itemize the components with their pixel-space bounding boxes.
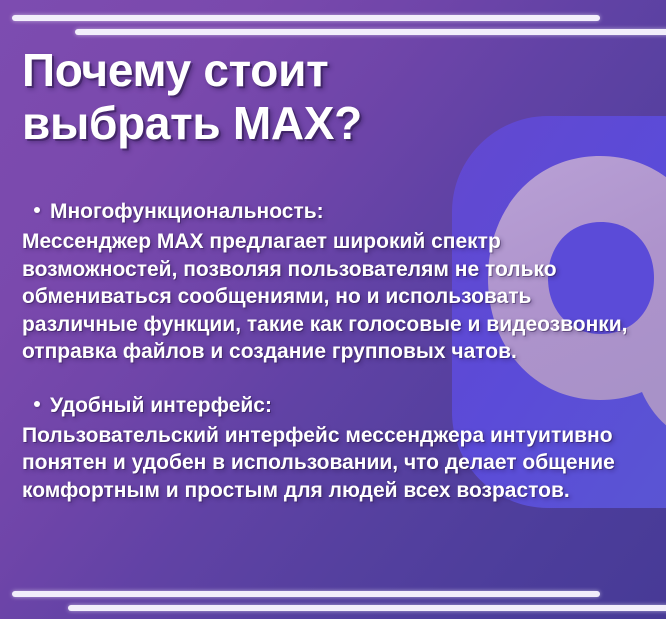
page-title-line-2: выбрать MAX? [22,97,362,149]
benefit-list: Многофункциональность: Мессенджер MAX пр… [0,198,666,530]
benefit-heading: Удобный интерфейс: [0,392,666,419]
benefit-body: Пользовательский интерфейс мессенджера и… [0,422,666,505]
bullet-dot-icon [34,207,40,213]
benefit-heading-label: Многофункциональность: [50,200,324,223]
decorative-line-top-1 [12,15,600,21]
benefit-heading: Многофункциональность: [0,198,666,225]
page-title: Почему стоит выбрать MAX? [22,44,452,150]
benefit-item-interface: Удобный интерфейс: Пользовательский инте… [0,392,666,505]
page-title-line-1: Почему стоит [22,44,328,96]
bullet-dot-icon [34,401,40,407]
benefit-item-multifunctionality: Многофункциональность: Мессенджер MAX пр… [0,198,666,366]
benefit-heading-label: Удобный интерфейс: [50,394,272,417]
decorative-line-top-2 [75,29,666,35]
decorative-line-bottom-2 [68,605,666,611]
promo-poster: Почему стоит выбрать MAX? Многофункциона… [0,0,666,619]
decorative-line-bottom-1 [12,591,600,597]
benefit-body: Мессенджер MAX предлагает широкий спектр… [0,228,666,366]
